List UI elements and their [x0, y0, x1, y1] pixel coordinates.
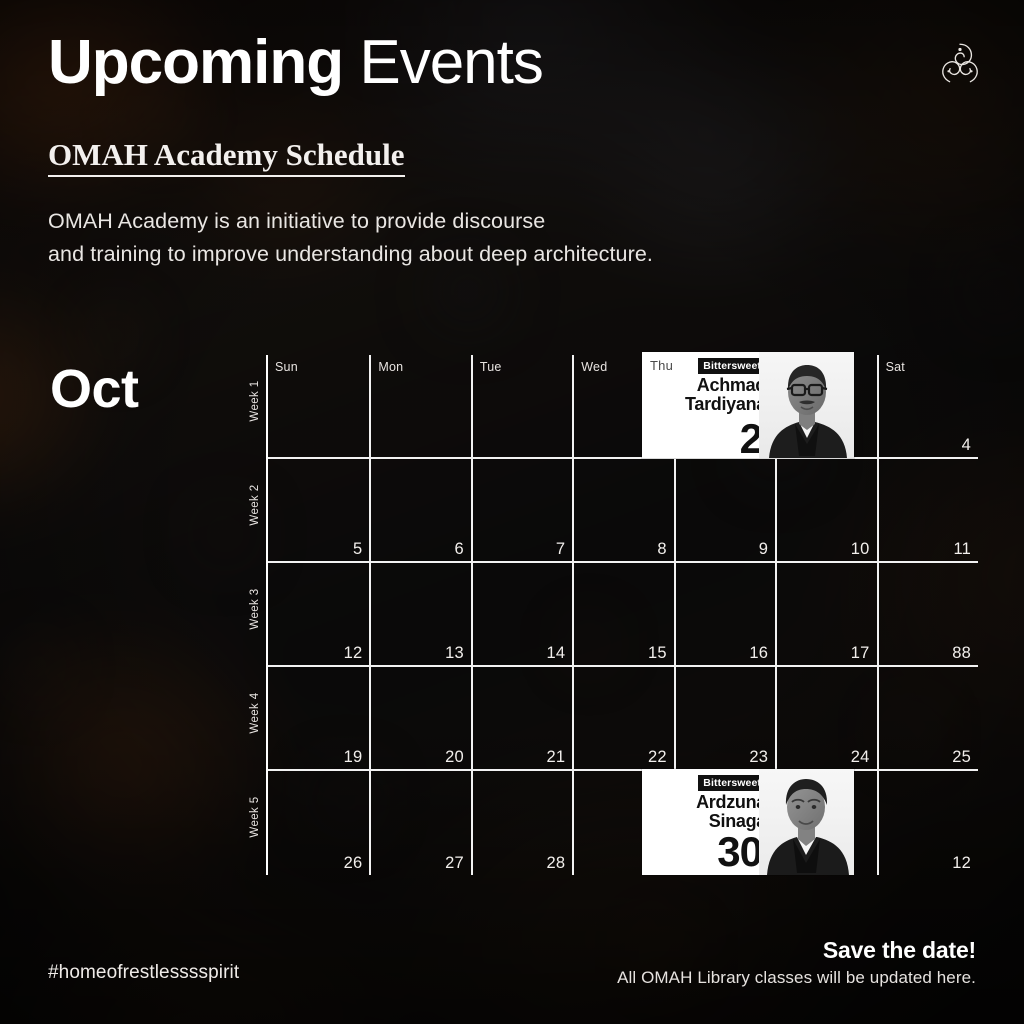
week-label: Week 1 [249, 366, 261, 436]
calendar-day-number: 10 [851, 540, 870, 559]
calendar-day-number: 5 [353, 540, 362, 559]
calendar-day-number: 26 [344, 854, 363, 873]
month-label: Oct [50, 358, 139, 420]
footer-callout: Save the date! All OMAH Library classes … [617, 937, 976, 988]
calendar-day-cell[interactable]: Sun [268, 355, 369, 459]
calendar-day-cell[interactable]: 8 [572, 459, 673, 563]
event-speaker-photo [759, 352, 854, 458]
calendar-day-cell[interactable]: 21 [471, 667, 572, 771]
calendar-day-cell[interactable]: 28 [471, 771, 572, 875]
calendar-day-cell[interactable]: 24 [775, 667, 876, 771]
calendar-day-cell[interactable]: Sat4 [877, 355, 978, 459]
calendar-day-cell[interactable]: 17 [775, 563, 876, 667]
week-label: Week 3 [249, 574, 261, 644]
calendar-day-number: 17 [851, 644, 870, 663]
calendar-day-cell[interactable]: 12 [268, 563, 369, 667]
calendar-day-cell[interactable]: 19 [268, 667, 369, 771]
calendar: Week 1 Week 2 Week 3 Week 4 Week 5 SunMo… [246, 355, 978, 875]
event-badge: Bittersweet [698, 358, 766, 374]
event-speaker-name-line-1: Achmad [685, 376, 766, 395]
calendar-day-number: 11 [953, 540, 971, 559]
calendar-weekday-header: Sun [275, 360, 298, 374]
calendar-weekday-header: Wed [581, 360, 607, 374]
calendar-day-number: 12 [344, 644, 363, 663]
calendar-day-cell[interactable]: 5 [268, 459, 369, 563]
week-label: Week 2 [249, 470, 261, 540]
calendar-day-number: 12 [952, 854, 971, 873]
week-label: Week 5 [249, 782, 261, 852]
calendar-day-cell[interactable]: 15 [572, 563, 673, 667]
triskelion-spiral-logo-icon [934, 38, 986, 90]
calendar-day-cell[interactable]: Mon [369, 355, 470, 459]
calendar-day-number: 13 [445, 644, 464, 663]
calendar-day-number: 21 [547, 748, 566, 767]
calendar-day-number: 19 [344, 748, 363, 767]
calendar-day-cell[interactable]: 23 [674, 667, 775, 771]
calendar-day-number: 22 [648, 748, 667, 767]
description-line-1: OMAH Academy is an initiative to provide… [48, 205, 653, 238]
calendar-weekday-header: Tue [480, 360, 502, 374]
calendar-day-number: 27 [445, 854, 464, 873]
calendar-day-cell[interactable]: 22 [572, 667, 673, 771]
page-title-light: Events [359, 28, 543, 97]
week-label: Week 4 [249, 678, 261, 748]
event-date-number: 30 [717, 831, 762, 873]
page-title: Upcoming Events [48, 32, 543, 94]
calendar-day-number: 25 [952, 748, 971, 767]
calendar-weekday-header: Mon [378, 360, 403, 374]
event-card[interactable]: Thu Bittersweet Achmad Tardiyana 2 [642, 352, 854, 458]
footer-note: All OMAH Library classes will be updated… [617, 968, 976, 988]
page-title-strong: Upcoming [48, 28, 343, 97]
calendar-day-number: 24 [851, 748, 870, 767]
calendar-day-cell[interactable]: 88 [877, 563, 978, 667]
sub-heading: OMAH Academy Schedule [48, 137, 405, 177]
calendar-day-cell[interactable]: 13 [369, 563, 470, 667]
hashtag: #homeofrestlesssspirit [48, 962, 239, 984]
event-speaker-name: Achmad Tardiyana [685, 376, 766, 415]
calendar-day-number: 9 [759, 540, 768, 559]
calendar-day-number: 88 [952, 644, 971, 663]
event-card[interactable]: Bittersweet Ardzuna Sinaga 30 [642, 769, 854, 875]
upcoming-events-poster: Upcoming Events OMAH Academy Schedule OM… [0, 0, 1024, 1024]
week-rail: Week 1 Week 2 Week 3 Week 4 Week 5 [246, 355, 268, 875]
calendar-day-cell[interactable]: 26 [268, 771, 369, 875]
calendar-day-number: 23 [749, 748, 768, 767]
calendar-day-cell[interactable]: 25 [877, 667, 978, 771]
calendar-day-number: 8 [657, 540, 666, 559]
event-speaker-name-line-2: Tardiyana [685, 395, 766, 414]
calendar-day-cell[interactable]: 14 [471, 563, 572, 667]
calendar-day-cell[interactable]: 20 [369, 667, 470, 771]
event-speaker-photo [759, 769, 854, 875]
calendar-day-cell[interactable]: Tue [471, 355, 572, 459]
description: OMAH Academy is an initiative to provide… [48, 205, 653, 272]
calendar-day-number: 15 [648, 644, 667, 663]
calendar-day-cell[interactable]: 12 [877, 771, 978, 875]
calendar-day-cell[interactable]: 16 [674, 563, 775, 667]
calendar-day-cell[interactable]: 10 [775, 459, 876, 563]
calendar-day-number: 6 [454, 540, 463, 559]
calendar-day-number: 16 [749, 644, 768, 663]
save-the-date-text: Save the date! [617, 937, 976, 964]
event-badge: Bittersweet [698, 775, 766, 791]
calendar-day-cell[interactable]: 7 [471, 459, 572, 563]
event-speaker-name-line-1: Ardzuna [696, 793, 766, 812]
calendar-day-number: 4 [962, 436, 971, 455]
calendar-day-number: 28 [547, 854, 566, 873]
calendar-day-number: 20 [445, 748, 464, 767]
calendar-grid: SunMonTueWed1ThuFriSat456789101112131415… [268, 355, 978, 875]
calendar-day-cell[interactable]: 9 [674, 459, 775, 563]
calendar-day-cell[interactable]: 6 [369, 459, 470, 563]
calendar-day-cell[interactable]: 27 [369, 771, 470, 875]
event-day-of-week: Thu [650, 358, 673, 373]
description-line-2: and training to improve understanding ab… [48, 238, 653, 271]
calendar-day-number: 7 [556, 540, 565, 559]
calendar-day-number: 14 [547, 644, 566, 663]
calendar-weekday-header: Sat [886, 360, 905, 374]
event-speaker-name: Ardzuna Sinaga [696, 793, 766, 832]
calendar-day-cell[interactable]: 11 [877, 459, 978, 563]
